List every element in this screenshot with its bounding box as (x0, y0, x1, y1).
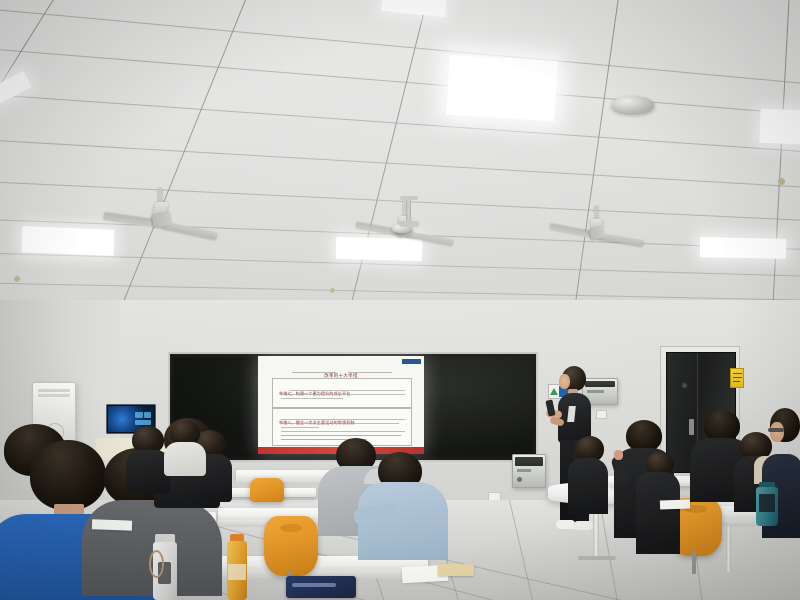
student-mid-right (568, 436, 608, 512)
sprinkler-head-icon (778, 178, 785, 185)
display-chip (135, 412, 143, 418)
torso (164, 442, 206, 476)
paper-sheet[interactable] (92, 519, 132, 530)
electrical-box-lower (512, 454, 546, 488)
chair-back-left[interactable] (250, 478, 284, 502)
warning-sign-yellow (730, 368, 744, 388)
floor-tile-line (509, 500, 539, 600)
teal-water-bottle[interactable] (756, 482, 778, 526)
ceiling-grid-line (770, 0, 790, 330)
torso (568, 458, 608, 514)
ceiling-grid-line (0, 46, 800, 126)
bottle-label (228, 564, 246, 580)
bottle-strap (149, 550, 164, 578)
mount-pole (406, 200, 411, 222)
smoke-detector-icon (612, 96, 654, 113)
classroom-photo: 改革的十大举措 举措七、构建一个更为提升的成长平台 举措八、健全一次次主要运动的… (0, 0, 800, 600)
display-chip (135, 420, 151, 425)
door-viewer (682, 383, 687, 388)
ac-grill (38, 389, 70, 392)
box-label (517, 469, 531, 472)
slide-body-line (281, 419, 405, 420)
student-light-blue-tee (356, 452, 448, 560)
face (770, 422, 784, 442)
glasses-icon (768, 428, 784, 432)
slide-body-line (281, 435, 401, 436)
chair-center[interactable] (264, 516, 318, 576)
chair-notch (280, 524, 302, 532)
light-panel-mid-left (22, 226, 115, 256)
ceiling-grid-line (569, 0, 620, 330)
chair-leg (692, 552, 696, 574)
suspended-grid-ceiling (0, 0, 800, 330)
hand (614, 450, 623, 460)
torso (636, 472, 680, 554)
slide-body-line (281, 394, 405, 395)
slide-body-line (289, 390, 405, 391)
slide-body-line (281, 431, 405, 432)
light-panel-mid-right (700, 237, 786, 259)
orange-drink-bottle[interactable] (226, 534, 248, 600)
ceiling-grid-line (99, 0, 250, 330)
round-table-base (578, 556, 616, 560)
light-panel-top-right (759, 109, 800, 145)
sprinkler-head-icon (330, 288, 335, 293)
blue-pencil-case[interactable] (286, 576, 356, 598)
slide-body-line (281, 398, 343, 399)
student-white-collar (162, 420, 206, 466)
pencil-case-stripe (292, 583, 336, 587)
presenter-face (559, 374, 570, 389)
bottle-label (759, 494, 775, 512)
light-panel-mid-center (336, 237, 423, 261)
paper-sheet[interactable] (660, 499, 690, 509)
sprinkler-head-icon (14, 276, 20, 282)
light-panel-edge-top (381, 0, 447, 17)
slide-title-rule-right (348, 372, 392, 373)
box-keyhole (517, 477, 522, 482)
notebook[interactable] (438, 564, 474, 576)
mount-base (399, 221, 419, 227)
box-vent (515, 457, 543, 466)
display-chip (144, 412, 151, 418)
white-water-bottle[interactable] (152, 534, 178, 600)
ac-grill (38, 394, 70, 397)
slide-logo (402, 359, 421, 364)
slide-body-line (281, 423, 399, 424)
fan-blade (549, 224, 595, 239)
light-panel-top-center (446, 55, 557, 121)
slide-body-line (281, 427, 319, 428)
slide-block-1: 举措七、构建一个更为提升的成长平台 (272, 378, 412, 408)
slide-title-rule-left (292, 372, 336, 373)
